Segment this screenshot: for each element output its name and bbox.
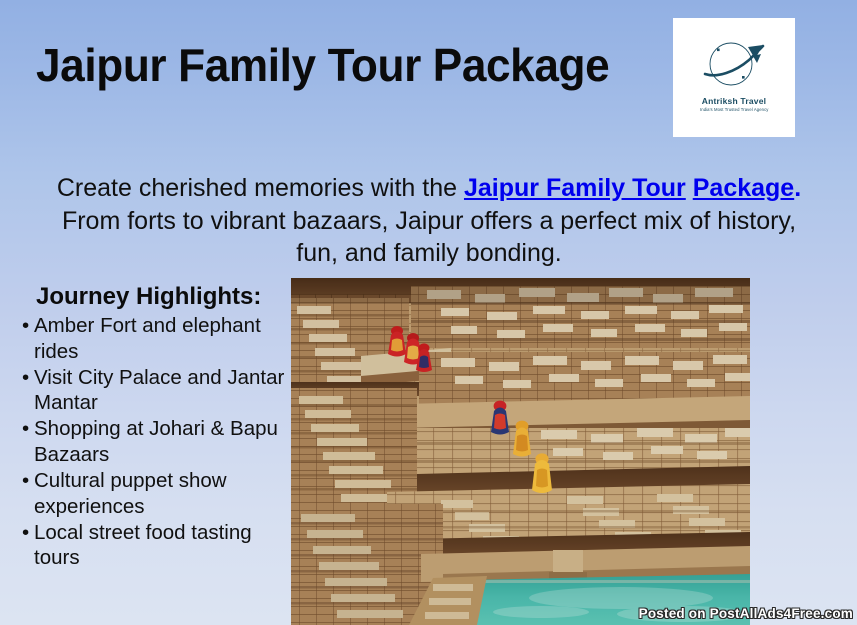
intro-lead-text: Create cherished memories with the	[57, 174, 464, 202]
list-item: Cultural puppet show experiences	[22, 468, 290, 520]
brand-logo-card: Antriksh Travel India's Most Trusted Tra…	[673, 18, 795, 137]
advertisement-canvas: Jaipur Family Tour Package Antriksh Trav…	[0, 0, 857, 625]
list-item: Local street food tasting tours	[22, 520, 290, 572]
airplane-orbit-icon	[691, 34, 777, 94]
list-item: Visit City Palace and Jantar Mantar	[22, 365, 290, 417]
intro-paragraph: Create cherished memories with the Jaipu…	[48, 172, 810, 270]
stepwell-photo	[291, 278, 750, 625]
list-item: Shopping at Johari & Bapu Bazaars	[22, 416, 290, 468]
journey-highlights-block: Journey Highlights: Amber Fort and eleph…	[22, 283, 290, 571]
jaipur-family-tour-link-part-1[interactable]: Jaipur Family Tour	[464, 174, 686, 202]
page-title: Jaipur Family Tour Package	[36, 40, 631, 91]
intro-period: .	[794, 174, 801, 202]
brand-name: Antriksh Travel	[702, 96, 766, 106]
brand-tagline: India's Most Trusted Travel Agency	[700, 107, 769, 112]
link-gap	[686, 174, 693, 202]
jaipur-family-tour-link-part-2[interactable]: Package	[693, 174, 794, 202]
intro-rest-text: From forts to vibrant bazaars, Jaipur of…	[62, 207, 796, 268]
highlights-heading: Journey Highlights:	[36, 283, 290, 311]
list-item: Amber Fort and elephant rides	[22, 313, 290, 365]
highlights-list: Amber Fort and elephant rides Visit City…	[22, 313, 290, 571]
